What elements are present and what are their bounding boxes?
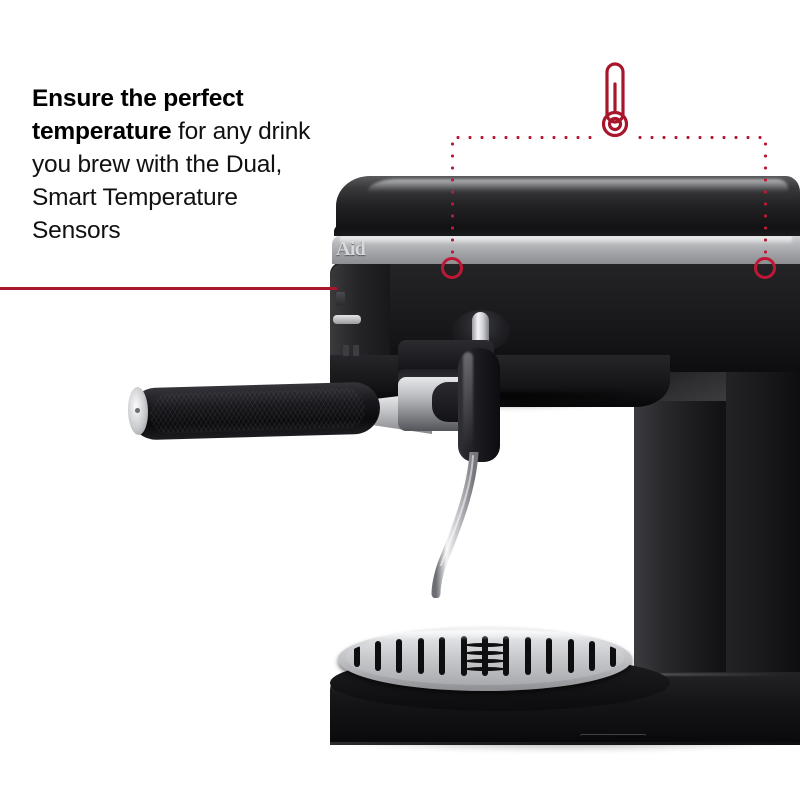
drip-tray-drain-ring [465, 643, 505, 647]
drip-tray-slot [610, 645, 616, 667]
machine-lid-gloss [368, 179, 788, 192]
drip-tray-slot [503, 636, 509, 676]
left-temperature-sensor-marker [441, 257, 463, 279]
contact-shadow [330, 740, 800, 752]
drip-tray-rim-highlight [346, 630, 624, 640]
drip-tray-slot [375, 641, 381, 670]
callout-dotted-drop-left [451, 138, 454, 258]
drip-tray-slot [568, 639, 574, 673]
drip-tray-slot [418, 638, 424, 675]
red-divider-rule [0, 287, 337, 290]
portafilter-cap-screw [135, 408, 140, 413]
drip-tray-plate[interactable] [338, 627, 632, 691]
steam-wand-tube[interactable] [428, 452, 490, 598]
drip-tray-slot [354, 645, 360, 667]
drip-tray-drain-ring [465, 659, 505, 663]
control-icon-left [343, 345, 349, 356]
portafilter-knurl-texture [149, 388, 365, 434]
steam-wand-joint-highlight [463, 352, 473, 448]
thermometer-icon [589, 58, 641, 148]
callout-dotted-line-left [452, 136, 598, 139]
page-title: Ensure the perfect temperature for any d… [32, 82, 332, 247]
drip-tray-slot [546, 638, 552, 675]
indicator-led [336, 292, 345, 306]
drip-tray-drain-ring [465, 651, 505, 655]
drip-tray-slot [396, 639, 402, 673]
drip-tray-drain-ring [465, 667, 505, 671]
callout-dotted-drop-right [764, 138, 767, 258]
drip-tray-slot [439, 637, 445, 676]
callout-dotted-line-right [634, 136, 767, 139]
control-icon-right [353, 345, 359, 356]
right-temperature-sensor-marker [754, 257, 776, 279]
drip-tray-slot [461, 636, 467, 676]
drip-tray-slot [589, 641, 595, 670]
control-slider[interactable] [333, 315, 361, 324]
kitchenaid-logo: Aid [336, 238, 456, 262]
product-feature-card: Aid [0, 0, 800, 800]
drip-tray-slot [525, 637, 531, 676]
